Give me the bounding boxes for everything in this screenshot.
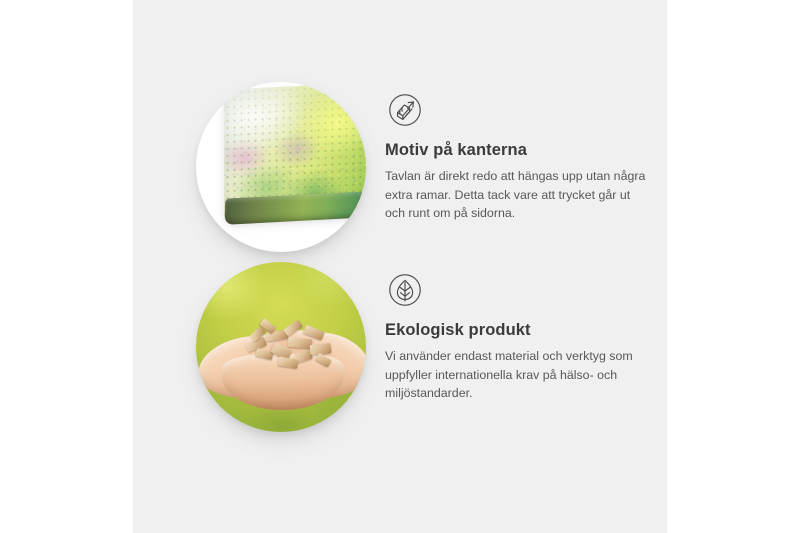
canvas-corner-photo-wrapper [196,82,366,252]
feature-title: Motiv på kanterna [385,141,665,161]
feature-text-print-edges: Motiv på kanterna Tavlan är direkt redo … [385,90,665,223]
feature-title: Ekologisk produkt [385,321,665,341]
content-panel: Motiv på kanterna Tavlan är direkt redo … [133,0,667,533]
feature-text-eco-product: Ekologisk produkt Vi använder endast mat… [385,270,665,403]
feature-block-print-edges: Motiv på kanterna Tavlan är direkt redo … [133,82,667,252]
hands-wood-chips-photo-wrapper [196,262,366,432]
wood-chips-pile [242,318,334,376]
feature-description: Tavlan är direkt redo att hängas upp uta… [385,167,647,224]
feature-block-eco-product: Ekologisk produkt Vi använder endast mat… [133,262,667,432]
product-feature-infographic: Motiv på kanterna Tavlan är direkt redo … [0,0,800,533]
canvas-corner-photo [196,82,366,252]
feature-description: Vi använder endast material och verktyg … [385,347,647,404]
hands-wood-chips-photo [196,262,366,432]
canvas-wrapped-edges-icon [385,90,425,130]
leaf-icon [385,270,425,310]
